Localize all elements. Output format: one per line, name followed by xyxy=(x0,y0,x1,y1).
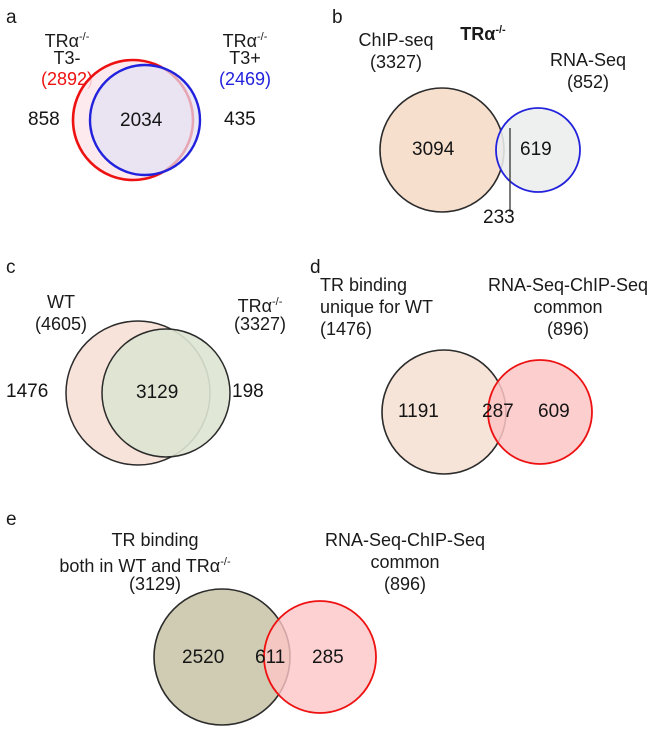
panel-a-right-only: 435 xyxy=(224,110,256,129)
panel-a-left-label-sup: -/- xyxy=(79,31,89,43)
panel-a-left-only: 858 xyxy=(28,110,60,129)
panel-e-intersection: 611 xyxy=(255,648,285,667)
panel-b-left-label: ChIP-seq xyxy=(336,30,456,51)
panel-b-intersection: 233 xyxy=(483,208,515,227)
panel-a-letter: a xyxy=(6,8,17,27)
panel-e-left-label-line1: TR binding xyxy=(40,530,270,551)
panel-a: a TRα-/- T3- (2892) TRα-/- T3+ (2469) 85… xyxy=(0,0,330,230)
panel-c-right-only: 198 xyxy=(232,382,264,401)
panel-d-left-label-line1: TR binding xyxy=(320,275,470,296)
panel-b: b TRα-/- ChIP-seq (3327) RNA-Seq (852) 3… xyxy=(330,0,664,232)
panel-b-right-label: RNA-Seq xyxy=(528,50,648,71)
panel-c-left-only: 1476 xyxy=(6,382,48,401)
panel-e-letter: e xyxy=(6,510,17,529)
panel-b-letter: b xyxy=(332,8,343,27)
panel-e: e TR binding both in WT and TRα-/- (3129… xyxy=(0,490,664,721)
panel-d-left-only: 1191 xyxy=(398,402,439,421)
panel-c-letter: c xyxy=(6,258,16,277)
panel-e-right-only: 285 xyxy=(312,648,344,667)
panel-b-title-text: TRα xyxy=(460,24,495,44)
panel-d-right-count: (896) xyxy=(478,319,658,340)
panel-c: c WT (4605) TRα-/- (3327) 1476 3129 198 xyxy=(0,250,330,485)
panel-b-left-count: (3327) xyxy=(336,52,456,73)
panel-d-left-label-line2: unique for WT xyxy=(320,297,485,318)
panel-a-right-label-sup: -/- xyxy=(257,31,267,43)
panel-b-left-only: 3094 xyxy=(412,140,454,159)
panel-b-right-only: 619 xyxy=(520,140,552,159)
panel-d-right-label-line2: common xyxy=(478,297,658,318)
panel-e-right-label-line2: common xyxy=(280,552,530,573)
panel-b-title-sup: -/- xyxy=(495,24,505,36)
panel-d-letter: d xyxy=(310,258,321,277)
panel-e-left-label-line2-sup: -/- xyxy=(220,556,230,568)
panel-d: d TR binding unique for WT (1476) RNA-Se… xyxy=(310,250,664,485)
panel-c-intersection: 3129 xyxy=(136,383,178,402)
panel-d-left-count: (1476) xyxy=(320,319,400,340)
panel-e-left-label-line2-text: both in WT and TRα xyxy=(59,556,220,576)
panel-d-right-label-line1: RNA-Seq-ChIP-Seq xyxy=(478,275,658,296)
panel-a-intersection: 2034 xyxy=(120,111,162,130)
panel-e-left-only: 2520 xyxy=(182,648,224,667)
panel-d-intersection: 287 xyxy=(482,402,514,421)
panel-d-right-only: 609 xyxy=(538,402,570,421)
panel-e-right-label-line1: RNA-Seq-ChIP-Seq xyxy=(280,530,530,551)
